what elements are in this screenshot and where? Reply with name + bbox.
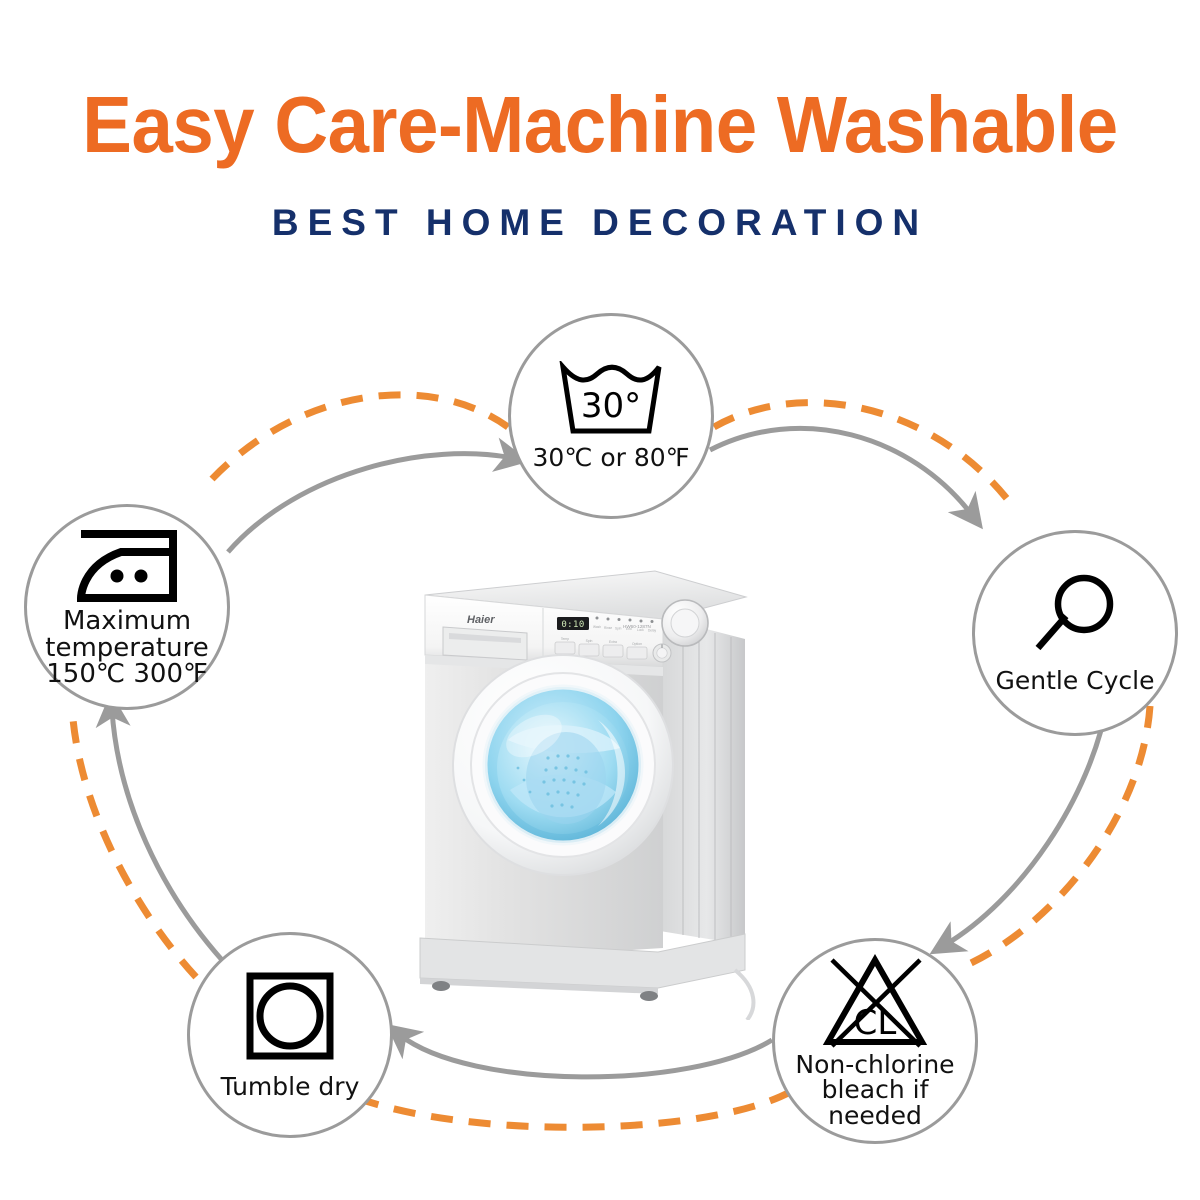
power-cord bbox=[735, 970, 753, 1020]
node-tumble-label: Tumble dry bbox=[221, 1074, 360, 1100]
node-iron-label: Maximum temperature 150℃ 300℉ bbox=[17, 608, 237, 688]
node-tumble-dry[interactable]: Tumble dry bbox=[187, 932, 393, 1138]
no-chlorine-bleach-icon: CL bbox=[820, 954, 930, 1050]
led-display: 0:10 bbox=[557, 617, 589, 630]
tumble-dry-icon bbox=[244, 970, 336, 1062]
svg-text:Temp: Temp bbox=[561, 637, 569, 641]
infographic-canvas: Easy Care-Machine Washable BEST HOME DEC… bbox=[0, 0, 1200, 1200]
wash-tub-icon: 30° bbox=[557, 361, 665, 439]
program-selector-knob bbox=[650, 588, 720, 658]
svg-text:Option: Option bbox=[632, 642, 642, 646]
node-non-chlorine-bleach[interactable]: CL Non-chlorine bleach if needed bbox=[772, 938, 978, 1144]
page-subtitle: BEST HOME DECORATION bbox=[0, 202, 1200, 244]
wash-tub-value: 30° bbox=[581, 386, 641, 426]
washer-brand-text: Haier bbox=[467, 614, 495, 626]
node-wash-temperature[interactable]: 30° 30℃ or 80℉ bbox=[508, 313, 714, 519]
iron-two-dots-icon bbox=[73, 526, 181, 606]
washer-door bbox=[448, 650, 678, 880]
svg-text:Extra: Extra bbox=[609, 640, 617, 644]
washer-foot-right bbox=[640, 991, 658, 1001]
node-bleach-label: Non-chlorine bleach if needed bbox=[760, 1052, 990, 1129]
svg-text:Rinse: Rinse bbox=[604, 626, 612, 630]
svg-text:0:10: 0:10 bbox=[561, 620, 584, 630]
washer-base bbox=[405, 930, 775, 1020]
svg-text:End: End bbox=[626, 627, 632, 631]
svg-text:Lock: Lock bbox=[637, 628, 644, 632]
page-title: Easy Care-Machine Washable bbox=[42, 84, 1158, 166]
node-gentle-cycle[interactable]: Gentle Cycle bbox=[972, 530, 1178, 736]
svg-text:Spin: Spin bbox=[586, 639, 593, 643]
bleach-cl-text: CL bbox=[854, 1003, 897, 1043]
washer-foot-left bbox=[432, 981, 450, 991]
node-gentle-label: Gentle Cycle bbox=[996, 668, 1155, 694]
svg-text:Spin: Spin bbox=[615, 627, 622, 631]
node-max-iron-temperature[interactable]: Maximum temperature 150℃ 300℉ bbox=[24, 504, 230, 710]
svg-text:Wash: Wash bbox=[593, 625, 601, 629]
node-wash-label: 30℃ or 80℉ bbox=[533, 445, 690, 471]
gentle-cycle-icon bbox=[1028, 572, 1122, 656]
